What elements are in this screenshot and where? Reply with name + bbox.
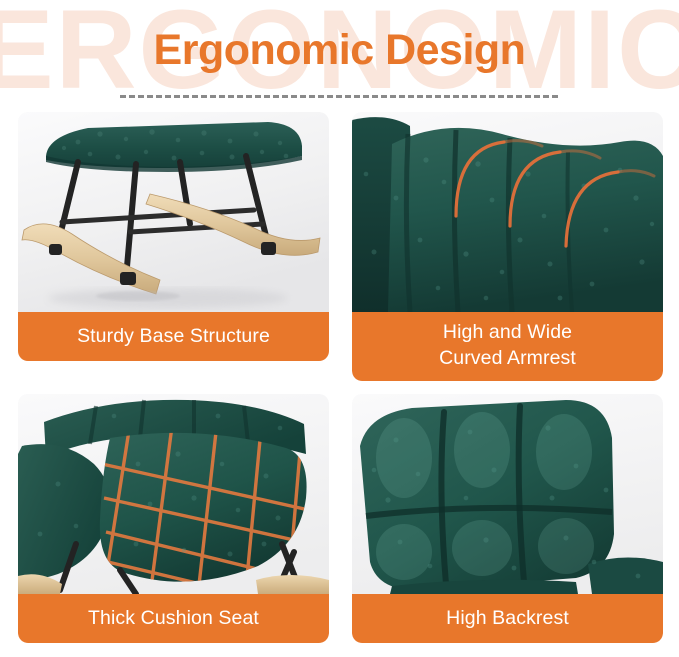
photo-thick-cushion-seat [18,394,329,594]
caption-line: High Backrest [358,605,657,631]
caption-high-and-wide-curved-armrest: High and Wide Curved Armrest [352,312,663,381]
caption-line: Thick Cushion Seat [24,605,323,631]
feature-card-grid: Sturdy Base Structure [18,112,663,643]
caption-high-backrest: High Backrest [352,594,663,643]
infographic-page: ERGONOMIC Ergonomic Design [0,0,679,657]
photo-sturdy-base-structure [18,112,329,312]
caption-line: High and Wide [358,319,657,345]
caption-line: Sturdy Base Structure [24,323,323,349]
page-title: Ergonomic Design [0,28,679,73]
feature-card-high-and-wide-curved-armrest[interactable]: High and Wide Curved Armrest [352,112,663,381]
dashed-divider [120,95,558,98]
caption-sturdy-base-structure: Sturdy Base Structure [18,312,329,361]
caption-thick-cushion-seat: Thick Cushion Seat [18,594,329,643]
feature-card-thick-cushion-seat[interactable]: Thick Cushion Seat [18,394,329,643]
feature-card-high-backrest[interactable]: High Backrest [352,394,663,643]
photo-high-and-wide-curved-armrest [352,112,663,312]
caption-line: Curved Armrest [358,345,657,371]
photo-high-backrest [352,394,663,594]
feature-card-sturdy-base-structure[interactable]: Sturdy Base Structure [18,112,329,381]
header: Ergonomic Design [0,0,679,110]
